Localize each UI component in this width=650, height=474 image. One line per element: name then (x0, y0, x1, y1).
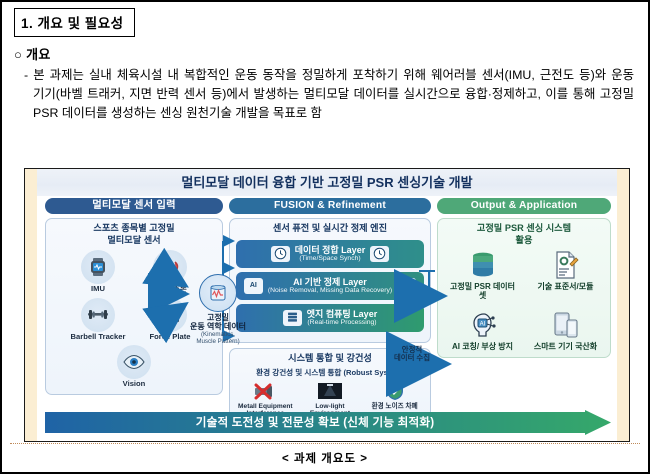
overview-label: 개요 (26, 47, 51, 62)
figure-caption: < 과제 개요도 > (2, 450, 648, 466)
figure-inner: 멀티모달 데이터 융합 기반 고정밀 PSR 센싱기술 개발 (37, 169, 617, 441)
bottom-banner: 기술적 도전성 및 전문성 확보 (신체 기능 최적화) (45, 410, 611, 435)
bullet-circle-icon: ○ (14, 47, 22, 62)
arrow-label-stable-collection: 안정적 데이터 수집 (385, 346, 439, 362)
connector-arrows (37, 196, 617, 441)
data-waveform-icon (199, 274, 237, 312)
section-heading: 1. 개요 및 필요성 (14, 8, 135, 37)
overview-paragraph: - 본 과제는 실내 체육시설 내 복합적인 운동 동작을 정밀하게 포착하기 … (24, 66, 634, 123)
document-page: 1. 개요 및 필요성 ○ 개요 - 본 과제는 실내 체육시설 내 복합적인 … (0, 0, 650, 474)
banner-text: 기술적 도전성 및 전문성 확보 (신체 기능 최적화) (45, 410, 585, 435)
overview-bullet: ○ 개요 (14, 44, 648, 63)
center-data-node: 고정밀 운동 역학 데이터 (Kinematics, Muscle Patter… (187, 274, 249, 346)
dotted-divider (10, 443, 640, 444)
figure-title: 멀티모달 데이터 융합 기반 고정밀 PSR 센싱기술 개발 (37, 169, 617, 196)
center-node-subtitle: (Kinematics, Muscle Pattern) (187, 332, 249, 346)
center-node-title: 고정밀 운동 역학 데이터 (187, 314, 249, 332)
figure-columns: 멀티모달 센서 입력 스포츠 종목별 고정밀 멀티모달 센서 IMU (37, 196, 617, 441)
figure-container: 멀티모달 데이터 융합 기반 고정밀 PSR 센싱기술 개발 (24, 168, 630, 442)
